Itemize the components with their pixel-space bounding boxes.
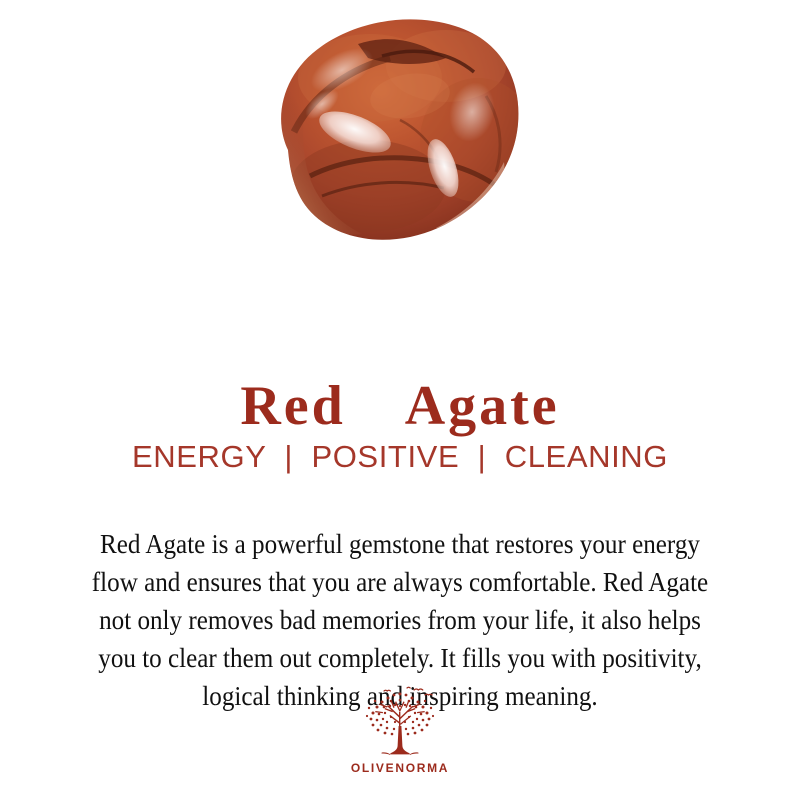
red-agate-stone-illustration xyxy=(250,0,550,260)
stone-body xyxy=(281,19,536,239)
page-title: Red Agate xyxy=(0,374,800,438)
product-attributes: ENERGY | POSITIVE | CLEANING xyxy=(0,438,800,476)
brand-name: OLIVENORMA xyxy=(0,761,800,775)
bird-icon xyxy=(384,687,432,695)
product-info-card: Red Agate ENERGY | POSITIVE | CLEANING R… xyxy=(0,0,800,800)
description-line: you to clear them out completely. It fil… xyxy=(45,639,756,677)
description-line: Red Agate is a powerful gemstone that re… xyxy=(45,525,756,563)
description-line: flow and ensures that you are always com… xyxy=(45,563,756,601)
brand-logo: OLIVENORMA xyxy=(0,686,800,775)
description-line: not only removes bad memories from your … xyxy=(45,601,756,639)
gemstone-image xyxy=(0,0,800,320)
tree-of-life-icon xyxy=(357,686,443,760)
